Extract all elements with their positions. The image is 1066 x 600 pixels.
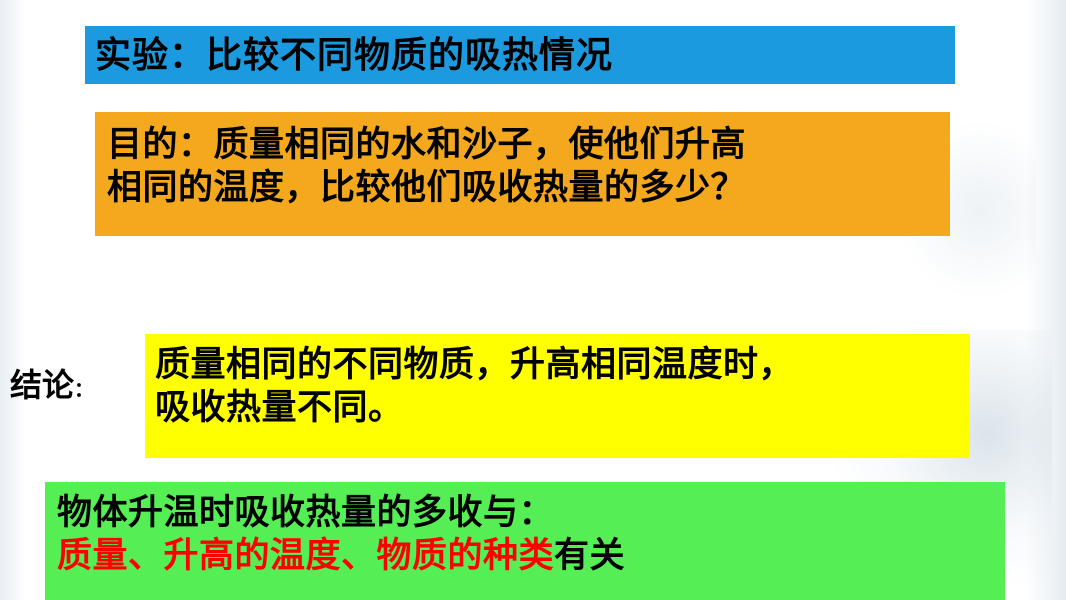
factors-banner: 物体升温时吸收热量的多收与： 质量、升高的温度、物质的种类有关 xyxy=(45,482,1005,600)
factors-highlight-text: 质量、升高的温度、物质的种类 xyxy=(57,536,554,576)
slide-canvas: 实验：比较不同物质的吸热情况 目的：质量相同的水和沙子，使他们升高 相同的温度，… xyxy=(0,0,1066,600)
right-edge-shading xyxy=(1026,0,1066,600)
purpose-line-2: 相同的温度，比较他们吸收热量的多少？ xyxy=(107,167,940,210)
conclusion-label-text: 结论 xyxy=(10,366,74,404)
experiment-title-text: 实验：比较不同物质的吸热情况 xyxy=(95,35,613,76)
left-edge-shading xyxy=(0,0,26,600)
purpose-banner: 目的：质量相同的水和沙子，使他们升高 相同的温度，比较他们吸收热量的多少？ xyxy=(95,112,950,236)
factors-line-2: 质量、升高的温度、物质的种类有关 xyxy=(57,535,997,578)
conclusion-label-colon: ： xyxy=(74,377,94,401)
experiment-title-banner: 实验：比较不同物质的吸热情况 xyxy=(85,26,955,84)
purpose-line-1: 目的：质量相同的水和沙子，使他们升高 xyxy=(107,124,940,167)
factors-line-1: 物体升温时吸收热量的多收与： xyxy=(57,492,997,535)
conclusion-banner: 质量相同的不同物质，升高相同温度时， 吸收热量不同。 xyxy=(145,334,970,458)
conclusion-line-1: 质量相同的不同物质，升高相同温度时， xyxy=(155,344,962,387)
conclusion-line-2: 吸收热量不同。 xyxy=(155,387,962,430)
factors-tail-text: 有关 xyxy=(554,536,625,576)
conclusion-label: 结论： xyxy=(10,366,150,405)
